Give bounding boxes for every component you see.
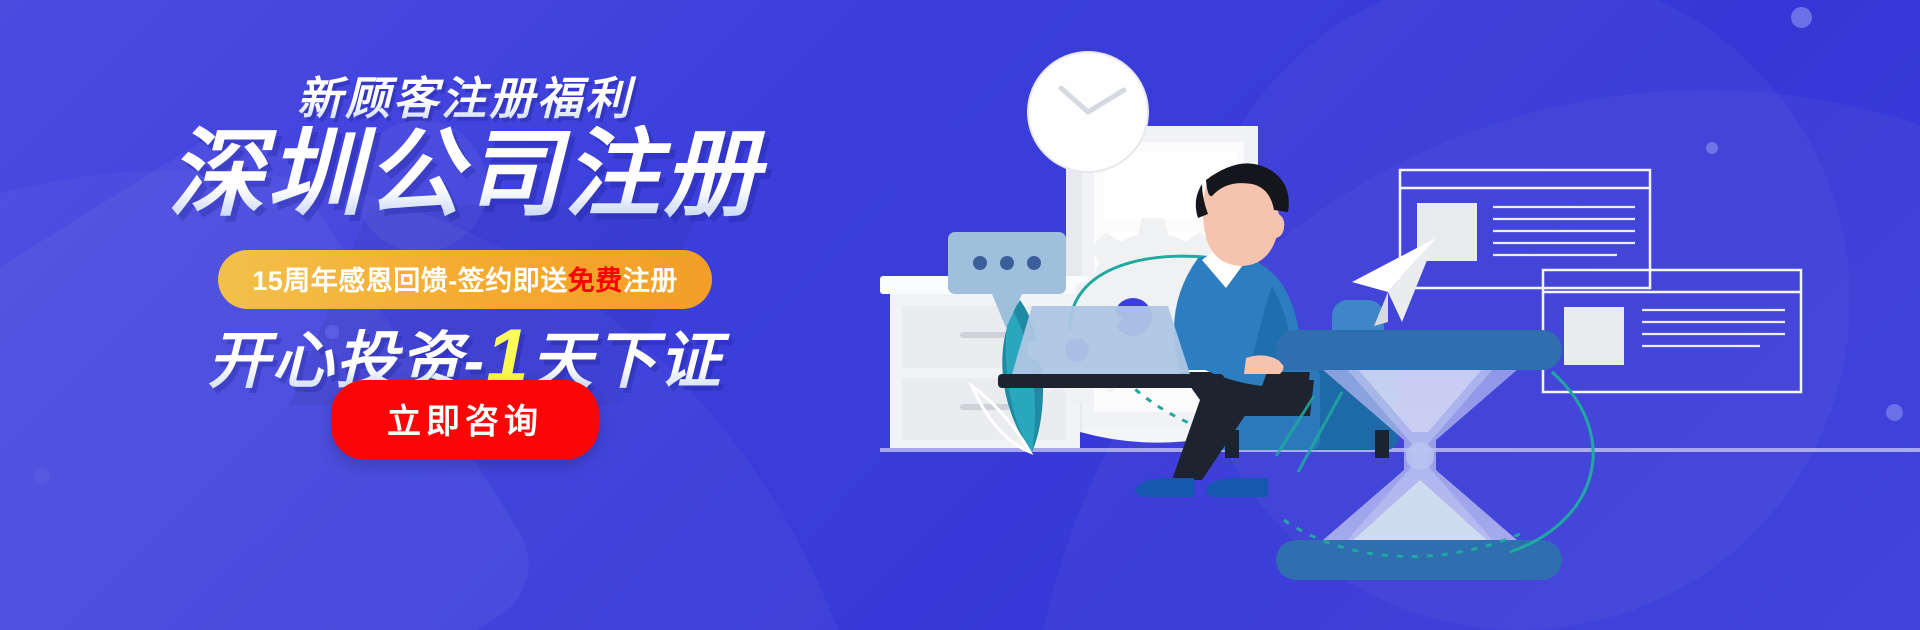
promo-badge-highlight: 免费 [568, 266, 623, 296]
cta-wrap: 立即咨询 [0, 380, 930, 460]
copy-block: 新顾客注册福利 深圳公司注册 15周年感恩回馈-签约即送免费注册 开心投资-1天… [0, 0, 960, 630]
wall-clock-icon [1028, 52, 1148, 172]
page-title: 深圳公司注册 [0, 125, 930, 226]
promo-badge-wrap: 15周年感恩回馈-签约即送免费注册 [0, 250, 930, 309]
kicker-text: 新顾客注册福利 [0, 62, 930, 127]
hourglass-cap-top [1276, 330, 1562, 370]
consult-now-button[interactable]: 立即咨询 [331, 380, 599, 460]
hourglass-cap-bottom [1276, 540, 1562, 580]
person-shoe-left [1136, 478, 1194, 497]
status-badge: 15周年感恩回馈-签约即送免费注册 [218, 250, 712, 309]
promo-badge-prefix: 15周年感恩回馈-签约即送 [252, 266, 568, 296]
hero-illustration [880, 0, 1920, 630]
promo-banner: 新顾客注册福利 深圳公司注册 15周年感恩回馈-签约即送免费注册 开心投资-1天… [0, 0, 1920, 630]
floor-line [880, 448, 1920, 452]
person-shoe-right [1206, 478, 1268, 497]
promo-badge-suffix: 注册 [623, 266, 678, 296]
document-card-bottom-thumb [1564, 307, 1624, 365]
